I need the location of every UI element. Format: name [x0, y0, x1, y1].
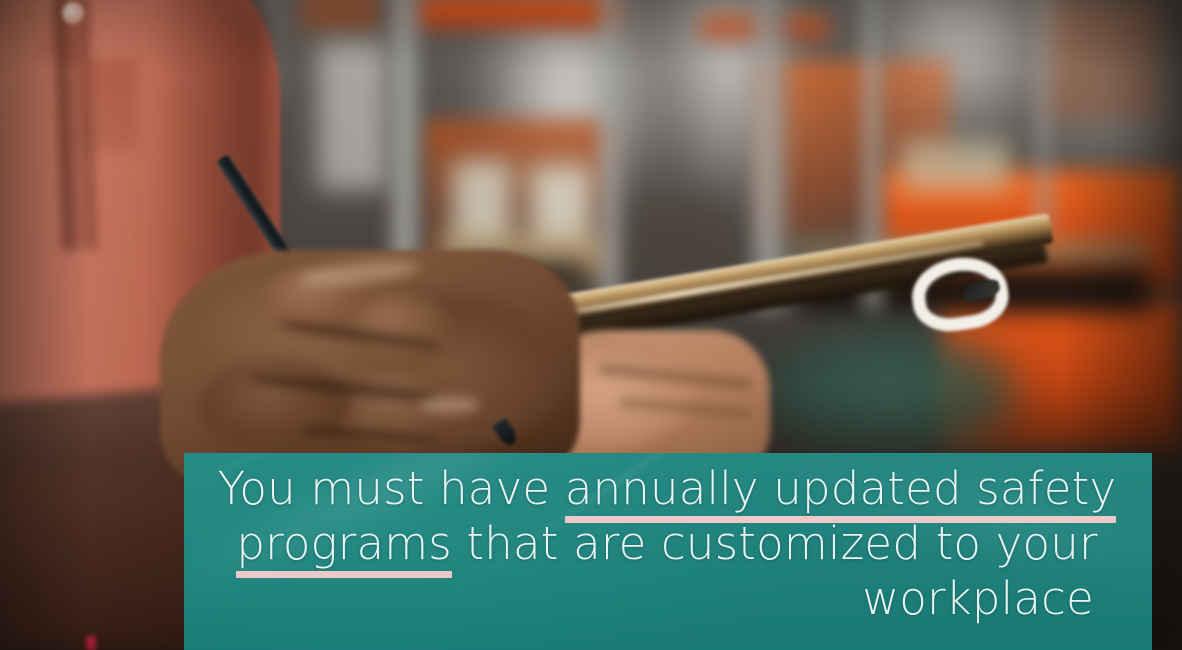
- caption-segment-plain: that are customized to your: [452, 517, 1098, 570]
- pallet-carton: [318, 40, 388, 190]
- video-frame: You must have annually updated safety pr…: [0, 0, 1182, 650]
- caption-segment-plain: You must have: [218, 462, 565, 515]
- shirt-button: [62, 2, 84, 24]
- caption-segment-underlined: annually updated safety: [565, 461, 1117, 516]
- racking-beam: [1040, 0, 1160, 120]
- caption-line-1: You must have annually updated safety: [212, 461, 1122, 516]
- caption-segment-plain: workplace: [862, 572, 1094, 625]
- forearm: [0, 470, 210, 650]
- skin-highlight: [420, 396, 480, 414]
- racking-beam: [408, 0, 618, 28]
- writing-hand: [160, 250, 580, 480]
- racking-beam: [300, 0, 380, 30]
- shirt-placket-fold: [78, 60, 138, 150]
- pallet-carton: [640, 200, 730, 270]
- racking-upright: [1030, 0, 1058, 230]
- caption-banner: You must have annually updated safety pr…: [184, 453, 1152, 650]
- pallet-carton: [900, 140, 1010, 192]
- caption-line-3: workplace: [212, 571, 1122, 626]
- caption-text: You must have annually updated safety pr…: [184, 453, 1152, 626]
- edge-artifact: [86, 636, 96, 650]
- caption-line-2: programs that are customized to your: [212, 516, 1122, 571]
- knuckle: [200, 360, 350, 450]
- caption-segment-underlined: programs: [236, 516, 452, 571]
